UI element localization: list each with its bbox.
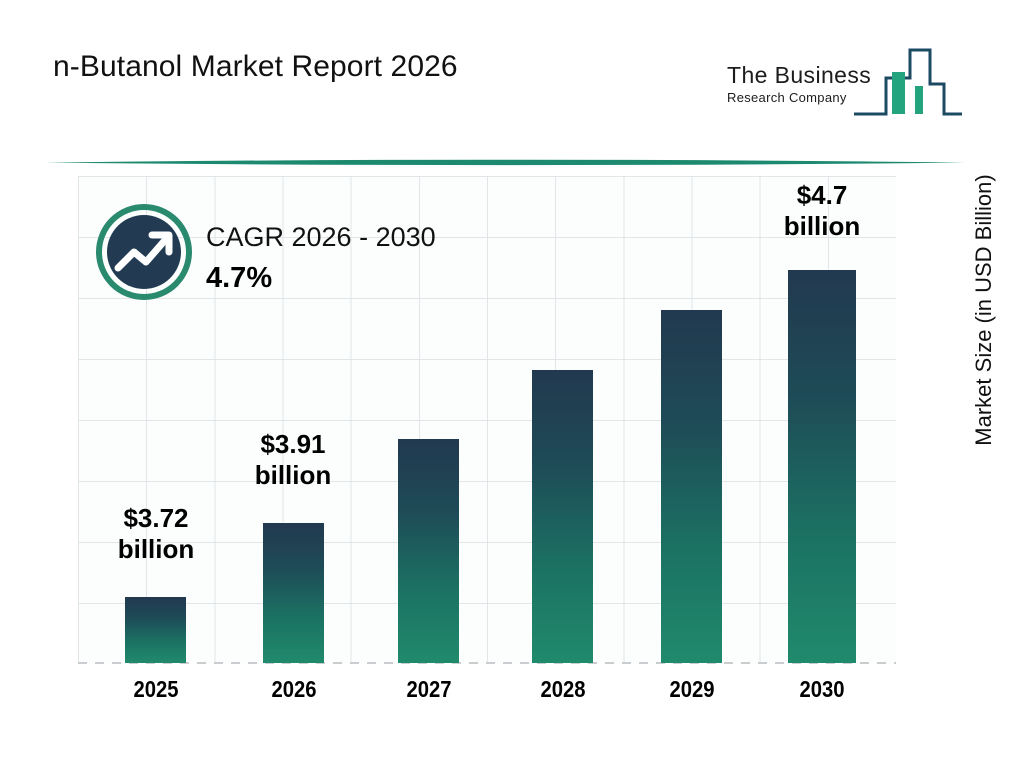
y-axis-title: Market Size (in USD Billion) bbox=[971, 150, 997, 470]
bar-value-label-2026-amount: $3.91 bbox=[232, 429, 354, 460]
bar-2029[interactable] bbox=[661, 310, 722, 663]
cagr-value-label: 4.7% bbox=[206, 262, 272, 295]
trending-up-icon bbox=[96, 204, 192, 300]
x-axis-label-2029: 2029 bbox=[656, 676, 728, 703]
x-axis-label-2027: 2027 bbox=[393, 676, 465, 703]
bar-value-label-2030-amount: $4.7 bbox=[761, 180, 883, 211]
bar-2028[interactable] bbox=[532, 370, 593, 663]
x-axis-label-2028: 2028 bbox=[527, 676, 599, 703]
bar-2025[interactable] bbox=[125, 597, 186, 663]
bar-value-label-2026: $3.91 billion bbox=[232, 429, 354, 490]
bar-value-label-2030-unit: billion bbox=[761, 211, 883, 242]
bar-2027[interactable] bbox=[398, 439, 459, 663]
bar-value-label-2025-amount: $3.72 bbox=[95, 503, 217, 534]
x-axis-label-2025: 2025 bbox=[120, 676, 192, 703]
bar-value-label-2026-unit: billion bbox=[232, 460, 354, 491]
bar-value-label-2025-unit: billion bbox=[95, 534, 217, 565]
bars-layer: $3.72 billion $3.91 billion $4.7 billion… bbox=[0, 0, 1024, 768]
bar-value-label-2025: $3.72 billion bbox=[95, 503, 217, 564]
bar-2030[interactable] bbox=[788, 270, 856, 663]
cagr-block: CAGR 2026 - 2030 4.7% bbox=[96, 204, 516, 304]
x-axis-label-2030: 2030 bbox=[786, 676, 858, 703]
x-axis-label-2026: 2026 bbox=[258, 676, 330, 703]
bar-value-label-2030: $4.7 billion bbox=[761, 180, 883, 241]
slide-canvas: n-Butanol Market Report 2026 The Busines… bbox=[0, 0, 1024, 768]
cagr-period-label: CAGR 2026 - 2030 bbox=[206, 222, 436, 253]
bar-2026[interactable] bbox=[263, 523, 324, 663]
